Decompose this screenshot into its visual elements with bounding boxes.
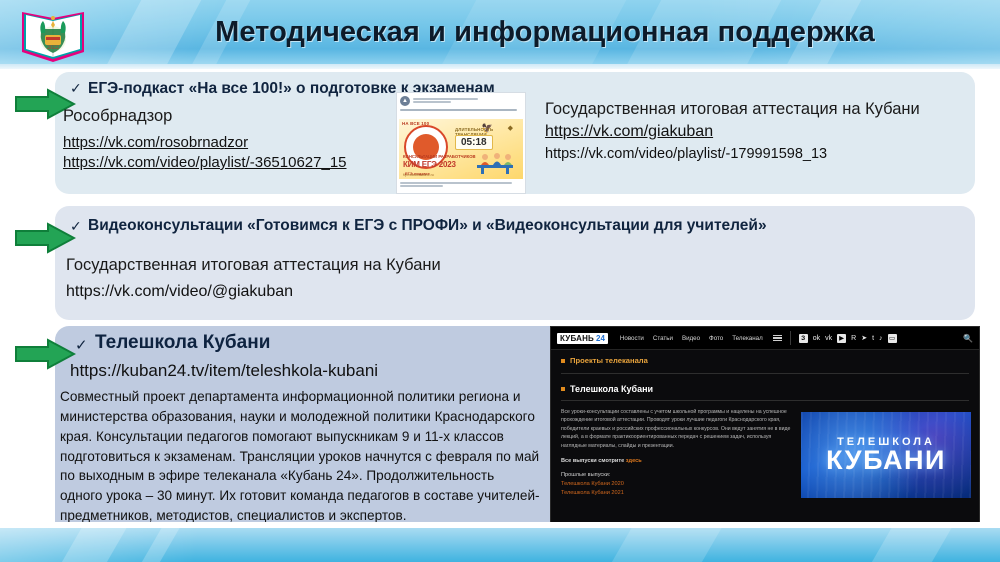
twitter-icon[interactable]: t <box>872 335 874 342</box>
poster-glow <box>801 412 971 498</box>
divider <box>561 400 969 401</box>
block1-org-name: Рособрнадзор <box>63 107 393 125</box>
block3-title: Телешкола Кубани <box>95 332 270 354</box>
block2-title: Видеоконсультации «Готовимся к ЕГЭ с ПРО… <box>88 217 767 235</box>
site-navbar: КУБАНЬ 24 Новости Статьи Видео Фото Теле… <box>551 327 979 350</box>
green-arrow-icon <box>14 338 76 370</box>
krasnodar-education-emblem-icon: 2022 <box>16 4 90 68</box>
site-paragraph: Все уроки-консультации составлены с учет… <box>561 408 796 450</box>
rutube-icon[interactable]: R <box>851 335 856 342</box>
vk-post-header: ▲ <box>397 93 525 108</box>
site-label: fipi.rosobrnadzor.ru <box>403 173 434 177</box>
block1-right-link[interactable]: https://vk.com/giakuban <box>545 123 965 141</box>
header-underline <box>0 64 1000 69</box>
nav-menu: Новости Статьи Видео Фото Телеканал <box>620 335 763 342</box>
site-body: Проекты телеканала Телешкола Кубани Все … <box>551 350 979 549</box>
placeholder-line <box>413 98 478 100</box>
students-illustration-icon <box>473 149 517 175</box>
tiktok-icon[interactable]: ♪ <box>879 335 883 342</box>
checkmark-icon: ✓ <box>70 218 82 235</box>
viber-icon[interactable]: ▭ <box>888 334 897 343</box>
block1-link-2[interactable]: https://vk.com/video/playlist/-36510627_… <box>63 153 393 173</box>
kuban24-site-screenshot[interactable]: КУБАНЬ 24 Новости Статьи Видео Фото Теле… <box>550 326 980 550</box>
block1-link-1[interactable]: https://vk.com/rosobrnadzor <box>63 133 393 153</box>
block3-paragraph: Совместный проект департамента информаци… <box>60 387 540 526</box>
block1-right-plain-url[interactable]: https://vk.com/video/playlist/-179991598… <box>545 146 965 162</box>
all-episodes-text: Все выпуски смотрите <box>561 458 626 464</box>
vk-post-image: НА ВСЕ 100 ЕГЭ-подкаст 🦅 ◆ ДЛИТЕЛЬНОСТЬ … <box>399 119 523 179</box>
kim-label: КОНСУЛЬТАЦИИ РАЗРАБОТЧИКОВ <box>403 154 475 159</box>
checkmark-icon: ✓ <box>70 80 82 97</box>
bullet-icon <box>561 359 565 363</box>
green-arrow-icon <box>14 222 76 254</box>
block2-org-name: Государственная итоговая аттестация на К… <box>66 256 441 275</box>
footer-streak <box>53 528 133 562</box>
social-icons-row: З ok vk ▶ R ➤ t ♪ ▭ <box>799 334 897 343</box>
svg-text:2022: 2022 <box>47 45 59 51</box>
site-heading: Телешкола Кубани <box>561 384 969 394</box>
nav-item-video[interactable]: Видео <box>682 335 700 342</box>
block1-left-column: Рособрнадзор https://vk.com/rosobrnadzor… <box>63 107 393 173</box>
footer-streak <box>603 528 728 562</box>
duration-value: 05:18 <box>455 135 493 150</box>
footer-band <box>0 528 1000 562</box>
block1-right-org: Государственная итоговая аттестация на К… <box>545 100 965 119</box>
placeholder-line <box>413 101 451 103</box>
divider <box>561 373 969 374</box>
bullet-icon <box>561 387 565 391</box>
footer-streak <box>133 528 186 562</box>
nav-item-novosti[interactable]: Новости <box>620 335 644 342</box>
badge-top-text: НА ВСЕ 100 <box>402 121 429 126</box>
hamburger-menu-icon[interactable] <box>773 335 782 342</box>
kim-title: КИМ ЕГЭ 2023 <box>403 160 456 169</box>
checkmark-icon: ✓ <box>75 336 88 354</box>
block2-link[interactable]: https://vk.com/video/@giakuban <box>66 283 293 301</box>
dzen-icon[interactable]: З <box>799 334 808 343</box>
odnoklassniki-icon[interactable]: ok <box>813 335 820 342</box>
block3-link[interactable]: https://kuban24.tv/item/teleshkola-kuban… <box>70 361 378 381</box>
placeholder-line <box>400 109 517 111</box>
vk-post-caption <box>397 109 525 118</box>
nav-item-stati[interactable]: Статьи <box>653 335 673 342</box>
logo-text: КУБАНЬ <box>560 334 594 343</box>
site-heading-label: Телешкола Кубани <box>570 384 653 394</box>
kuban24-logo[interactable]: КУБАНЬ 24 <box>557 333 608 344</box>
page-title: Методическая и информационная поддержка <box>150 16 940 58</box>
teleshkola-poster[interactable]: ТЕЛЕШКОЛА КУБАНИ <box>801 412 971 498</box>
logo-number: 24 <box>596 334 605 343</box>
vk-post-thumbnail[interactable]: ▲ НА ВСЕ 100 ЕГЭ-подкаст 🦅 ◆ ДЛИТЕЛЬНОСТ… <box>396 92 526 194</box>
telegram-icon[interactable]: ➤ <box>861 334 867 342</box>
search-icon[interactable]: 🔍 <box>963 334 973 343</box>
nav-item-telekanal[interactable]: Телеканал <box>732 335 762 342</box>
youtube-icon[interactable]: ▶ <box>837 334 846 343</box>
vk-icon[interactable]: vk <box>825 335 832 342</box>
breadcrumb-label: Проекты телеканала <box>570 356 648 365</box>
slide-root: Методическая и информационная поддержка … <box>0 0 1000 562</box>
block1-right-column: Государственная итоговая аттестация на К… <box>545 100 965 162</box>
breadcrumb[interactable]: Проекты телеканала <box>561 356 969 365</box>
rosobrnadzor-avatar-icon: ▲ <box>400 96 410 106</box>
vk-post-footer <box>397 180 525 189</box>
nav-item-foto[interactable]: Фото <box>709 335 723 342</box>
divider <box>790 331 791 345</box>
footer-streak <box>863 528 958 562</box>
all-episodes-link[interactable]: здесь <box>626 458 642 464</box>
